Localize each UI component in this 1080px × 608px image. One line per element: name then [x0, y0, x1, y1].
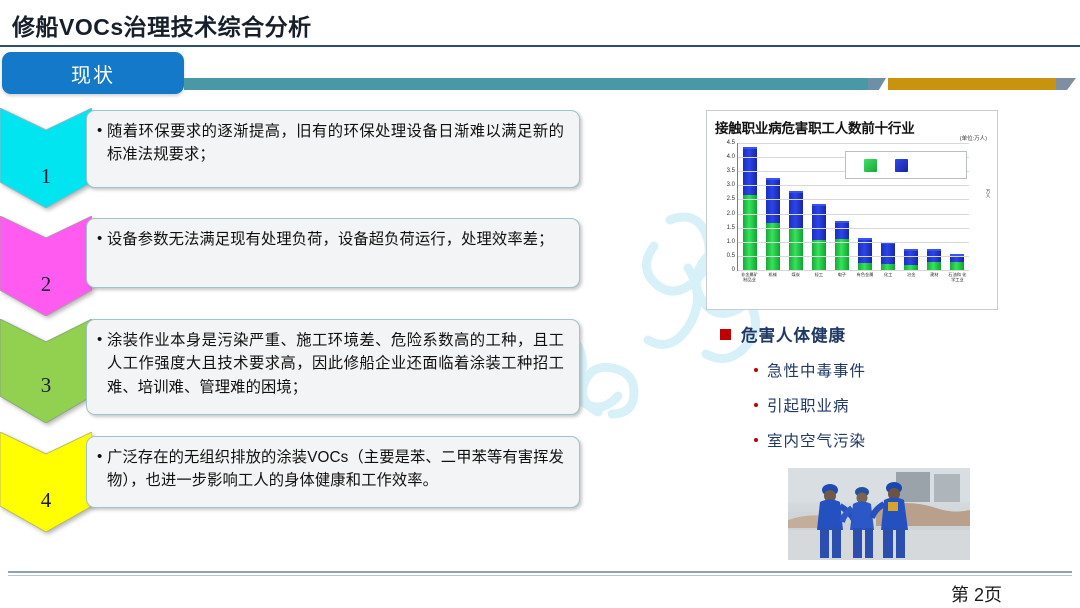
chart-y-tick-label: 3.5: [727, 168, 735, 174]
point-row: 1 •随着环保要求的逐渐提高，旧有的环保处理设备日渐难以满足新的标准法规要求；: [0, 104, 690, 208]
health-risk-item-text: 急性中毒事件: [767, 359, 866, 381]
gold-accent-bar-tip: [1056, 78, 1076, 90]
dot-bullet-icon: [754, 438, 758, 442]
point-callout: •广泛存在的无组织排放的涂装VOCs（主要是苯、二甲苯等有害挥发物），也进一步影…: [86, 436, 580, 508]
point-text-wrap: •涂装作业本身是污染严重、施工环境差、危险系数高的工种，且工人工作强度大且技术要…: [97, 329, 567, 399]
teal-accent-bar-tip: [868, 78, 886, 90]
point-number: 4: [0, 488, 92, 513]
chart-bar-segment-green: [789, 228, 803, 270]
footer-divider-bottom: [8, 575, 1072, 576]
chart-gridline: 1.5: [738, 228, 969, 229]
bullet-icon: •: [97, 446, 107, 469]
point-number: 1: [0, 164, 92, 189]
chart-y-tick-label: 2.0: [727, 211, 735, 217]
chart-unit-label: (单位:万人): [960, 134, 987, 142]
chevron-shape-4: [0, 432, 92, 532]
chart-bar: 机械: [766, 143, 780, 270]
health-risk-item-text: 室内空气污染: [767, 429, 866, 451]
point-text-wrap: •随着环保要求的逐渐提高，旧有的环保处理设备日渐难以满足新的标准法规要求；: [97, 120, 567, 167]
gold-accent-bar: [888, 78, 1070, 90]
page-title: 修船VOCs治理技术综合分析: [12, 8, 312, 42]
occupational-disease-chart: 接触职业病危害职工人数前十行业 (单位:万人) 非金属矿 制品业机械煤炭轻工电子…: [706, 110, 998, 310]
chart-bar-segment-blue: [904, 249, 918, 265]
point-row: 3 •涂装作业本身是污染严重、施工环境差、危险系数高的工种，且工人工作强度大且技…: [0, 315, 690, 428]
chart-bar-segment-green: [858, 263, 872, 270]
health-risk-item: 引起职业病: [754, 394, 1000, 416]
chart-bar-segment-green: [835, 239, 849, 270]
section-band: 现状: [0, 52, 1080, 98]
page-number: 第 2页: [951, 581, 1002, 607]
chart-bar-segment-green: [766, 223, 780, 270]
dot-bullet-icon: [754, 368, 758, 372]
health-risk-item: 室内空气污染: [754, 429, 1000, 451]
chart-bar: 煤炭: [789, 143, 803, 270]
chart-gridline: 0: [738, 270, 969, 271]
point-row: 2 •设备参数无法满足现有处理负荷，设备超负荷运行，处理效率差；: [0, 208, 690, 315]
chart-y-tick-label: 1.5: [727, 225, 735, 231]
chart-y-tick-label: 4.0: [727, 154, 735, 160]
chart-gridline: 1.0: [738, 242, 969, 243]
chart-y-tick-label: 4.5: [727, 140, 735, 146]
point-text: 广泛存在的无组织排放的涂装VOCs（主要是苯、二甲苯等有害挥发物），也进一步影响…: [107, 446, 564, 493]
chart-x-tick-label: 机械: [762, 273, 784, 278]
chart-x-tick-label: 轻工: [808, 273, 830, 278]
point-text-wrap: •设备参数无法满足现有处理负荷，设备超负荷运行，处理效率差；: [97, 228, 567, 251]
chart-x-tick-label: 有色金属: [854, 273, 876, 278]
chart-x-tick-label: 煤炭: [785, 273, 807, 278]
chevron-shape-1: [0, 108, 92, 208]
health-risk-item: 急性中毒事件: [754, 359, 1000, 381]
chart-bar-segment-blue: [881, 242, 895, 265]
teal-accent-bar: [184, 78, 884, 90]
point-callout: •设备参数无法满足现有处理负荷，设备超负荷运行，处理效率差；: [86, 218, 580, 288]
health-risk-item-text: 引起职业病: [767, 394, 850, 416]
chart-x-tick-label: 非金属矿 制品业: [739, 273, 761, 283]
chart-x-tick-label: 电子: [831, 273, 853, 278]
chart-bar: 非金属矿 制品业: [743, 143, 757, 270]
section-tab-label: 现状: [2, 59, 184, 88]
dot-bullet-icon: [754, 403, 758, 407]
right-panel: 接触职业病危害职工人数前十行业 (单位:万人) 非金属矿 制品业机械煤炭轻工电子…: [706, 110, 1006, 310]
point-callout: •涂装作业本身是污染严重、施工环境差、危险系数高的工种，且工人工作强度大且技术要…: [86, 319, 580, 415]
chart-gridline: 2.5: [738, 199, 969, 200]
chart-bar: 轻工: [812, 143, 826, 270]
chevron-shape-2: [0, 216, 92, 316]
chart-bar-segment-green: [950, 262, 964, 270]
point-text: 随着环保要求的逐渐提高，旧有的环保处理设备日渐难以满足新的标准法规要求；: [107, 120, 564, 167]
square-bullet-icon: [720, 329, 731, 340]
point-number: 2: [0, 272, 92, 297]
chart-y-tick-label: 0.5: [727, 253, 735, 259]
point-text-wrap: •广泛存在的无组织排放的涂装VOCs（主要是苯、二甲苯等有害挥发物），也进一步影…: [97, 446, 567, 493]
chart-bar-segment-green: [927, 262, 941, 270]
bullet-icon: •: [97, 228, 107, 251]
workers-photo: [788, 468, 970, 560]
chart-x-tick-label: 化工: [877, 273, 899, 278]
health-risk-heading-text: 危害人体健康: [741, 322, 846, 346]
chart-y-tick-label: 0: [732, 267, 735, 273]
points-list: 1 •随着环保要求的逐渐提高，旧有的环保处理设备日渐难以满足新的标准法规要求； …: [0, 104, 700, 532]
chart-bar-segment-blue: [812, 204, 826, 241]
point-text: 设备参数无法满足现有处理负荷，设备超负荷运行，处理效率差；: [107, 228, 564, 251]
legend-swatch-blue: [895, 159, 908, 172]
chart-title: 接触职业病危害职工人数前十行业: [715, 117, 915, 137]
chevron-shape-3: [0, 319, 92, 423]
chart-gridline: 0.5: [738, 256, 969, 257]
bullet-icon: •: [97, 329, 107, 352]
chart-bar-segment-blue: [789, 191, 803, 228]
health-risk-list: 危害人体健康 急性中毒事件 引起职业病 室内空气污染: [720, 322, 1000, 451]
point-text: 涂装作业本身是污染严重、施工环境差、危险系数高的工种，且工人工作强度大且技术要求…: [107, 329, 564, 399]
chart-y-tick-label: 3.0: [727, 182, 735, 188]
chart-bar-segment-blue: [950, 254, 964, 262]
point-row: 4 •广泛存在的无组织排放的涂装VOCs（主要是苯、二甲苯等有害挥发物），也进一…: [0, 428, 690, 532]
chart-y-tick-label: 1.0: [727, 239, 735, 245]
chart-bar-segment-green: [743, 195, 757, 270]
chart-gridline: 3.0: [738, 185, 969, 186]
chart-legend: [845, 151, 967, 179]
footer-divider-top: [8, 571, 1072, 573]
chart-right-axis-note: 万人: [985, 189, 991, 198]
chart-gridline: 4.5: [738, 143, 969, 144]
chart-bar-segment-blue: [835, 221, 849, 239]
chart-x-tick-label: 冶金: [900, 273, 922, 278]
section-tab-current[interactable]: 现状: [2, 52, 184, 94]
chart-gridline: 2.0: [738, 214, 969, 215]
health-risk-heading: 危害人体健康: [720, 322, 1000, 346]
chart-x-tick-label: 石油和 化学工业: [946, 273, 968, 283]
chart-x-tick-label: 建材: [923, 273, 945, 278]
legend-swatch-green: [864, 159, 877, 172]
title-divider: [0, 45, 1080, 47]
point-number: 3: [0, 373, 92, 398]
point-callout: •随着环保要求的逐渐提高，旧有的环保处理设备日渐难以满足新的标准法规要求；: [86, 110, 580, 188]
chart-y-tick-label: 2.5: [727, 196, 735, 202]
bullet-icon: •: [97, 120, 107, 143]
slide-canvas: 修船VOCs治理技术综合分析 现状 1 •随着环保要求的逐渐提高，旧有的环保处理…: [0, 0, 1080, 608]
